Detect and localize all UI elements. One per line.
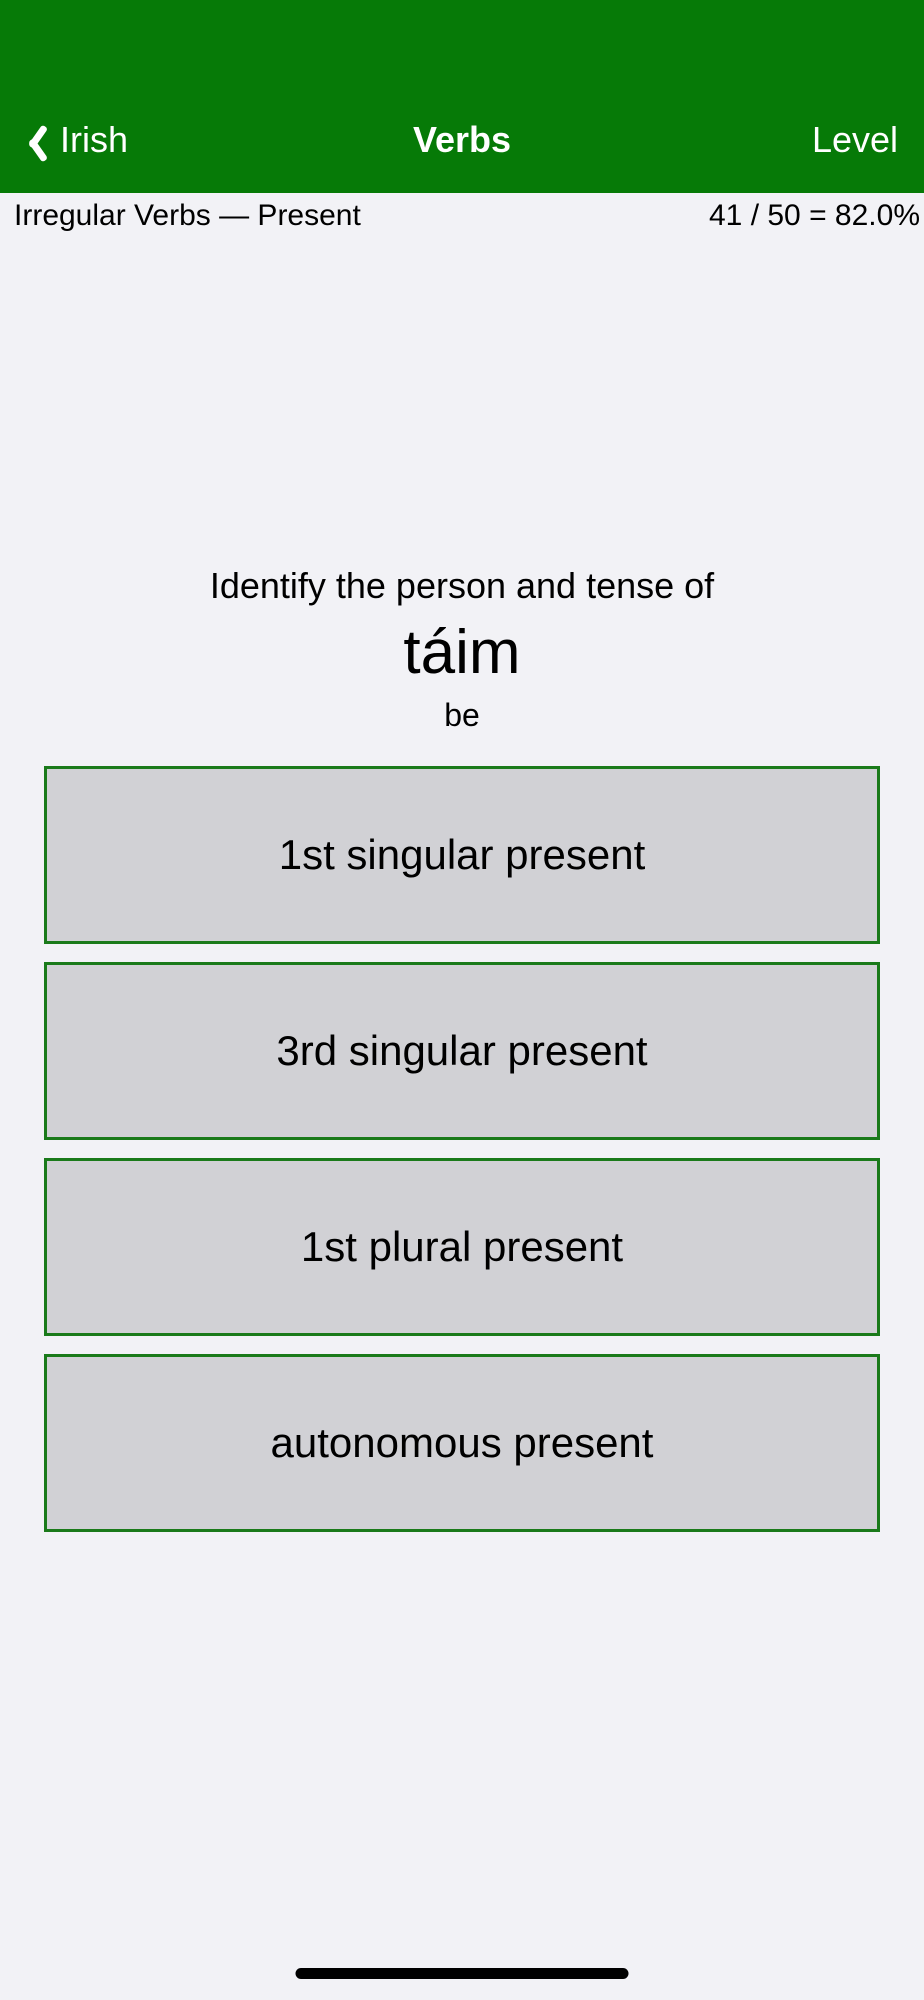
answer-option-2[interactable]: 3rd singular present [44,962,880,1140]
answer-option-label: 1st plural present [301,1223,623,1271]
level-button[interactable]: Level [812,119,898,161]
nav-row: Irish Verbs Level [0,86,924,193]
navigation-bar: Irish Verbs Level [0,0,924,193]
score-label: 41 / 50 = 82.0% [709,199,920,233]
subheader-bar: Irregular Verbs — Present 41 / 50 = 82.0… [0,193,924,238]
app-screen: Irish Verbs Level Irregular Verbs — Pres… [0,0,924,2000]
home-indicator[interactable] [296,1968,629,1979]
answer-option-label: 3rd singular present [276,1027,647,1075]
question-block: Identify the person and tense of táim be [0,565,924,734]
status-bar [0,0,924,86]
quiz-category-label: Irregular Verbs — Present [14,199,361,233]
answer-option-4[interactable]: autonomous present [44,1354,880,1532]
question-prompt: Identify the person and tense of [0,565,924,606]
page-title: Verbs [0,119,924,161]
answer-option-label: 1st singular present [279,831,646,879]
answer-option-1[interactable]: 1st singular present [44,766,880,944]
answer-options-list: 1st singular present 3rd singular presen… [44,766,880,1532]
answer-option-label: autonomous present [271,1419,654,1467]
word-translation: be [0,696,924,734]
answer-option-3[interactable]: 1st plural present [44,1158,880,1336]
target-word: táim [0,614,924,692]
